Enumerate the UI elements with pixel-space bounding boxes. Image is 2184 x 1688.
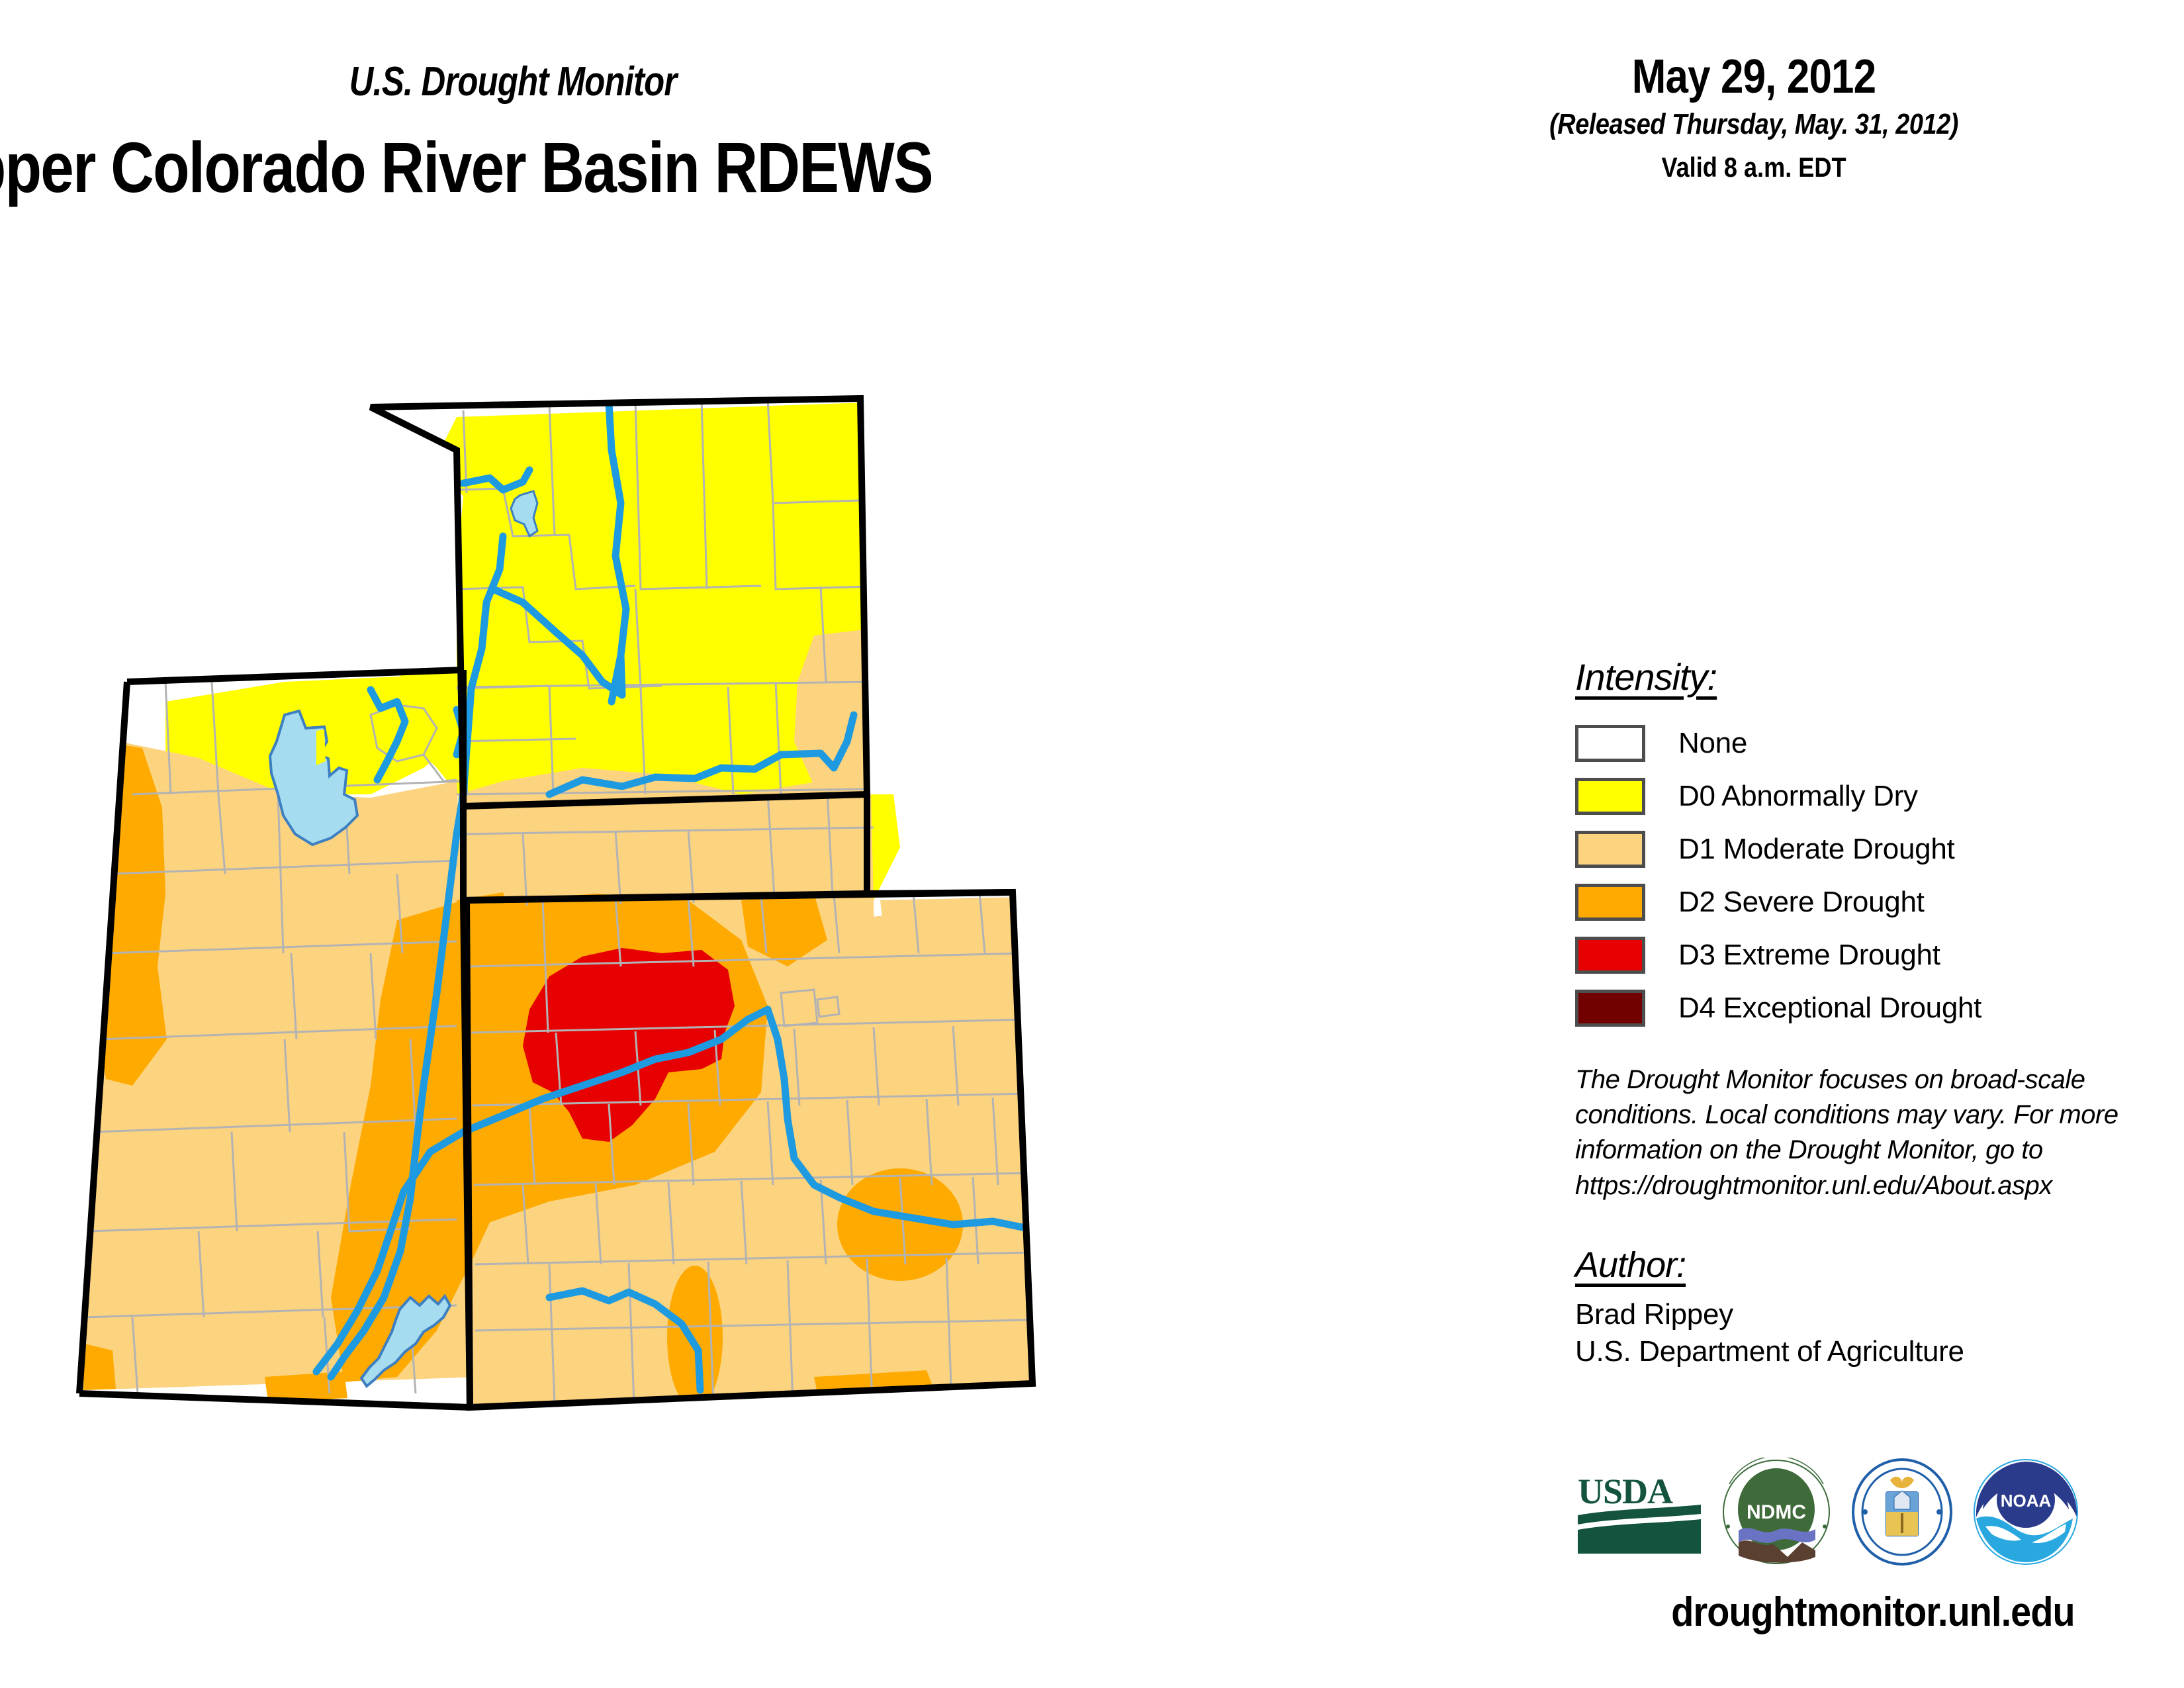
svg-text:USDA: USDA [1578,1472,1673,1511]
legend-label-none: None [1678,727,1747,760]
usda-logo: USDA [1575,1466,1704,1559]
legend-item-d1[interactable]: D1 Moderate Drought [1575,824,2171,874]
swatch-none [1575,725,1645,762]
page-header: U.S. Drought Monitor Upper Colorado Rive… [0,0,2184,265]
map-base-layer [0,371,1535,1615]
legend-panel: Intensity: None D0 Abnormally Dry D1 Mod… [1575,655,2171,1370]
legend-item-d0[interactable]: D0 Abnormally Dry [1575,771,2171,821]
author-heading: Author: [1575,1244,1686,1286]
legend-item-d4[interactable]: D4 Exceptional Drought [1575,983,2171,1033]
legend-list: None D0 Abnormally Dry D1 Moderate Droug… [1575,718,2171,1033]
swatch-d2 [1575,884,1645,921]
legend-label-d2: D2 Severe Drought [1678,886,1925,919]
svg-text:NDMC: NDMC [1747,1501,1806,1523]
swatch-d4 [1575,990,1645,1027]
author-affiliation: U.S. Department of Agriculture [1575,1333,2171,1370]
swatch-d3 [1575,937,1645,974]
legend-item-d2[interactable]: D2 Severe Drought [1575,877,2171,927]
page-title: Upper Colorado River Basin RDEWS [0,126,1206,209]
author-name: Brad Rippey [1575,1296,2171,1333]
noaa-logo: NOAA [1970,1458,2082,1567]
footer-url[interactable]: droughtmonitor.unl.edu [1605,1589,2141,1636]
drought-map[interactable] [0,371,1535,1615]
date-block: May 29, 2012 (Released Thursday, May. 31… [1456,50,2052,183]
legend-label-d3: D3 Extreme Drought [1678,939,1940,972]
swatch-d0 [1575,778,1645,815]
author-details: Brad Rippey U.S. Department of Agricultu… [1575,1296,2171,1371]
release-date: (Released Thursday, May. 31, 2012) [1498,108,2010,141]
disclaimer-text: The Drought Monitor focuses on broad-sca… [1575,1062,2184,1203]
intensity-heading: Intensity: [1575,655,1717,698]
valid-time: Valid 8 a.m. EDT [1498,152,2010,183]
svg-text:NOAA: NOAA [2001,1491,2052,1511]
subtitle: U.S. Drought Monitor [93,58,934,105]
legend-label-d1: D1 Moderate Drought [1678,833,1954,866]
legend-label-d0: D0 Abnormally Dry [1678,780,1918,813]
doc-logo [1849,1458,1955,1567]
ndmc-logo: NDMC [1719,1458,1835,1567]
legend-label-d4: D4 Exceptional Drought [1678,992,1981,1025]
legend-item-none[interactable]: None [1575,718,2171,769]
swatch-d1 [1575,831,1645,868]
valid-date: May 29, 2012 [1498,50,2010,104]
legend-item-d3[interactable]: D3 Extreme Drought [1575,930,2171,980]
logo-strip: USDA NDMC NOAA [1575,1451,2171,1573]
